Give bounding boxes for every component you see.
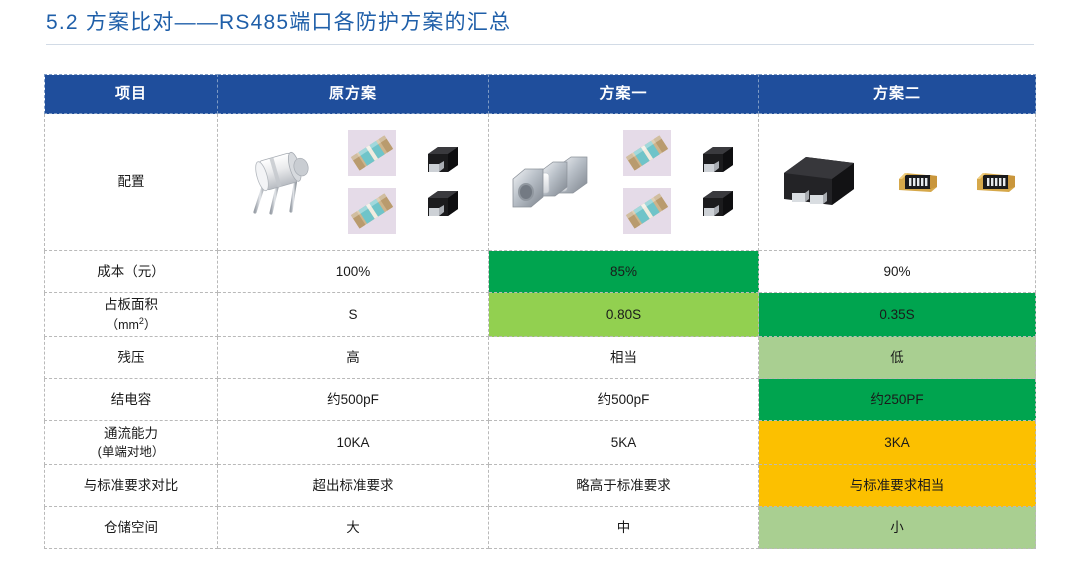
gdt-3-electrode-icon bbox=[244, 145, 322, 219]
cell-board-area-option1: 0.80S bbox=[489, 293, 759, 337]
tvs-group-option1 bbox=[697, 144, 737, 220]
table-row-standard-comparison: 与标准要求对比 超出标准要求 略高于标准要求 与标准要求相当 bbox=[45, 465, 1036, 507]
cell-surge-current-option2: 3KA bbox=[759, 421, 1036, 465]
table-row-configuration: 配置 bbox=[45, 114, 1036, 251]
title-divider bbox=[46, 44, 1034, 45]
row-label-junction-capacitance: 结电容 bbox=[45, 379, 218, 421]
cell-residual-voltage-option2: 低 bbox=[759, 337, 1036, 379]
chip-resistor-icon bbox=[896, 168, 940, 196]
cell-junction-capacitance-option2: 约250PF bbox=[759, 379, 1036, 421]
comparison-table: 项目 原方案 方案一 方案二 配置 bbox=[44, 74, 1036, 549]
row-label-cost: 成本（元） bbox=[45, 251, 218, 293]
cell-cost-option1: 85% bbox=[489, 251, 759, 293]
cell-surge-current-original: 10KA bbox=[218, 421, 489, 465]
cell-cost-original: 100% bbox=[218, 251, 489, 293]
column-header-original: 原方案 bbox=[218, 75, 489, 114]
cell-residual-voltage-option1: 相当 bbox=[489, 337, 759, 379]
cell-junction-capacitance-original: 约500pF bbox=[218, 379, 489, 421]
fuse-group-option1 bbox=[623, 130, 671, 234]
column-header-option2: 方案二 bbox=[759, 75, 1036, 114]
cell-configuration-option2 bbox=[759, 114, 1036, 251]
fuse-icon bbox=[623, 130, 671, 176]
page-title: 5.2 方案比对——RS485端口各防护方案的汇总 bbox=[46, 6, 511, 36]
tvs-diode-icon bbox=[422, 144, 462, 176]
fuse-icon bbox=[623, 188, 671, 234]
smd-gdt-icon bbox=[511, 149, 597, 215]
row-label-board-area-unit: （mm2） bbox=[45, 315, 217, 334]
row-label-configuration: 配置 bbox=[45, 114, 218, 251]
table-row-board-area: 占板面积 （mm2） S 0.80S 0.35S bbox=[45, 293, 1036, 337]
tvs-array-package-icon bbox=[776, 151, 862, 213]
cell-configuration-option1 bbox=[489, 114, 759, 251]
row-label-surge-current: 通流能力 (单端对地） bbox=[45, 421, 218, 465]
cell-standard-comparison-option2: 与标准要求相当 bbox=[759, 465, 1036, 507]
parts-group-option1 bbox=[489, 114, 758, 250]
fuse-group-original bbox=[348, 130, 396, 234]
cell-board-area-original: S bbox=[218, 293, 489, 337]
cell-configuration-original bbox=[218, 114, 489, 251]
cell-residual-voltage-original: 高 bbox=[218, 337, 489, 379]
chip-resistor-icon bbox=[974, 168, 1018, 196]
fuse-icon bbox=[348, 188, 396, 234]
table-row-junction-capacitance: 结电容 约500pF 约500pF 约250PF bbox=[45, 379, 1036, 421]
cell-cost-option2: 90% bbox=[759, 251, 1036, 293]
row-label-board-area: 占板面积 （mm2） bbox=[45, 293, 218, 337]
cell-board-area-option2: 0.35S bbox=[759, 293, 1036, 337]
table-header-row: 项目 原方案 方案一 方案二 bbox=[45, 75, 1036, 114]
cell-storage-space-option1: 中 bbox=[489, 507, 759, 549]
row-label-residual-voltage: 残压 bbox=[45, 337, 218, 379]
row-label-surge-current-note: (单端对地） bbox=[45, 443, 217, 461]
column-header-item: 项目 bbox=[45, 75, 218, 114]
cell-storage-space-original: 大 bbox=[218, 507, 489, 549]
row-label-board-area-main: 占板面积 bbox=[45, 295, 217, 315]
tvs-diode-icon bbox=[697, 188, 737, 220]
table-row-surge-current: 通流能力 (单端对地） 10KA 5KA 3KA bbox=[45, 421, 1036, 465]
parts-group-option2 bbox=[759, 114, 1035, 250]
tvs-diode-icon bbox=[422, 188, 462, 220]
cell-surge-current-option1: 5KA bbox=[489, 421, 759, 465]
tvs-group-original bbox=[422, 144, 462, 220]
table-row-residual-voltage: 残压 高 相当 低 bbox=[45, 337, 1036, 379]
cell-storage-space-option2: 小 bbox=[759, 507, 1036, 549]
cell-junction-capacitance-option1: 约500pF bbox=[489, 379, 759, 421]
parts-group-original bbox=[218, 114, 488, 250]
cell-standard-comparison-original: 超出标准要求 bbox=[218, 465, 489, 507]
slide-title-bar: 5.2 方案比对——RS485端口各防护方案的汇总 bbox=[0, 0, 1080, 52]
row-label-storage-space: 仓储空间 bbox=[45, 507, 218, 549]
row-label-surge-current-main: 通流能力 bbox=[45, 424, 217, 444]
cell-standard-comparison-option1: 略高于标准要求 bbox=[489, 465, 759, 507]
table-row-storage-space: 仓储空间 大 中 小 bbox=[45, 507, 1036, 549]
fuse-icon bbox=[348, 130, 396, 176]
row-label-standard-comparison: 与标准要求对比 bbox=[45, 465, 218, 507]
tvs-diode-icon bbox=[697, 144, 737, 176]
table-row-cost: 成本（元） 100% 85% 90% bbox=[45, 251, 1036, 293]
column-header-option1: 方案一 bbox=[489, 75, 759, 114]
